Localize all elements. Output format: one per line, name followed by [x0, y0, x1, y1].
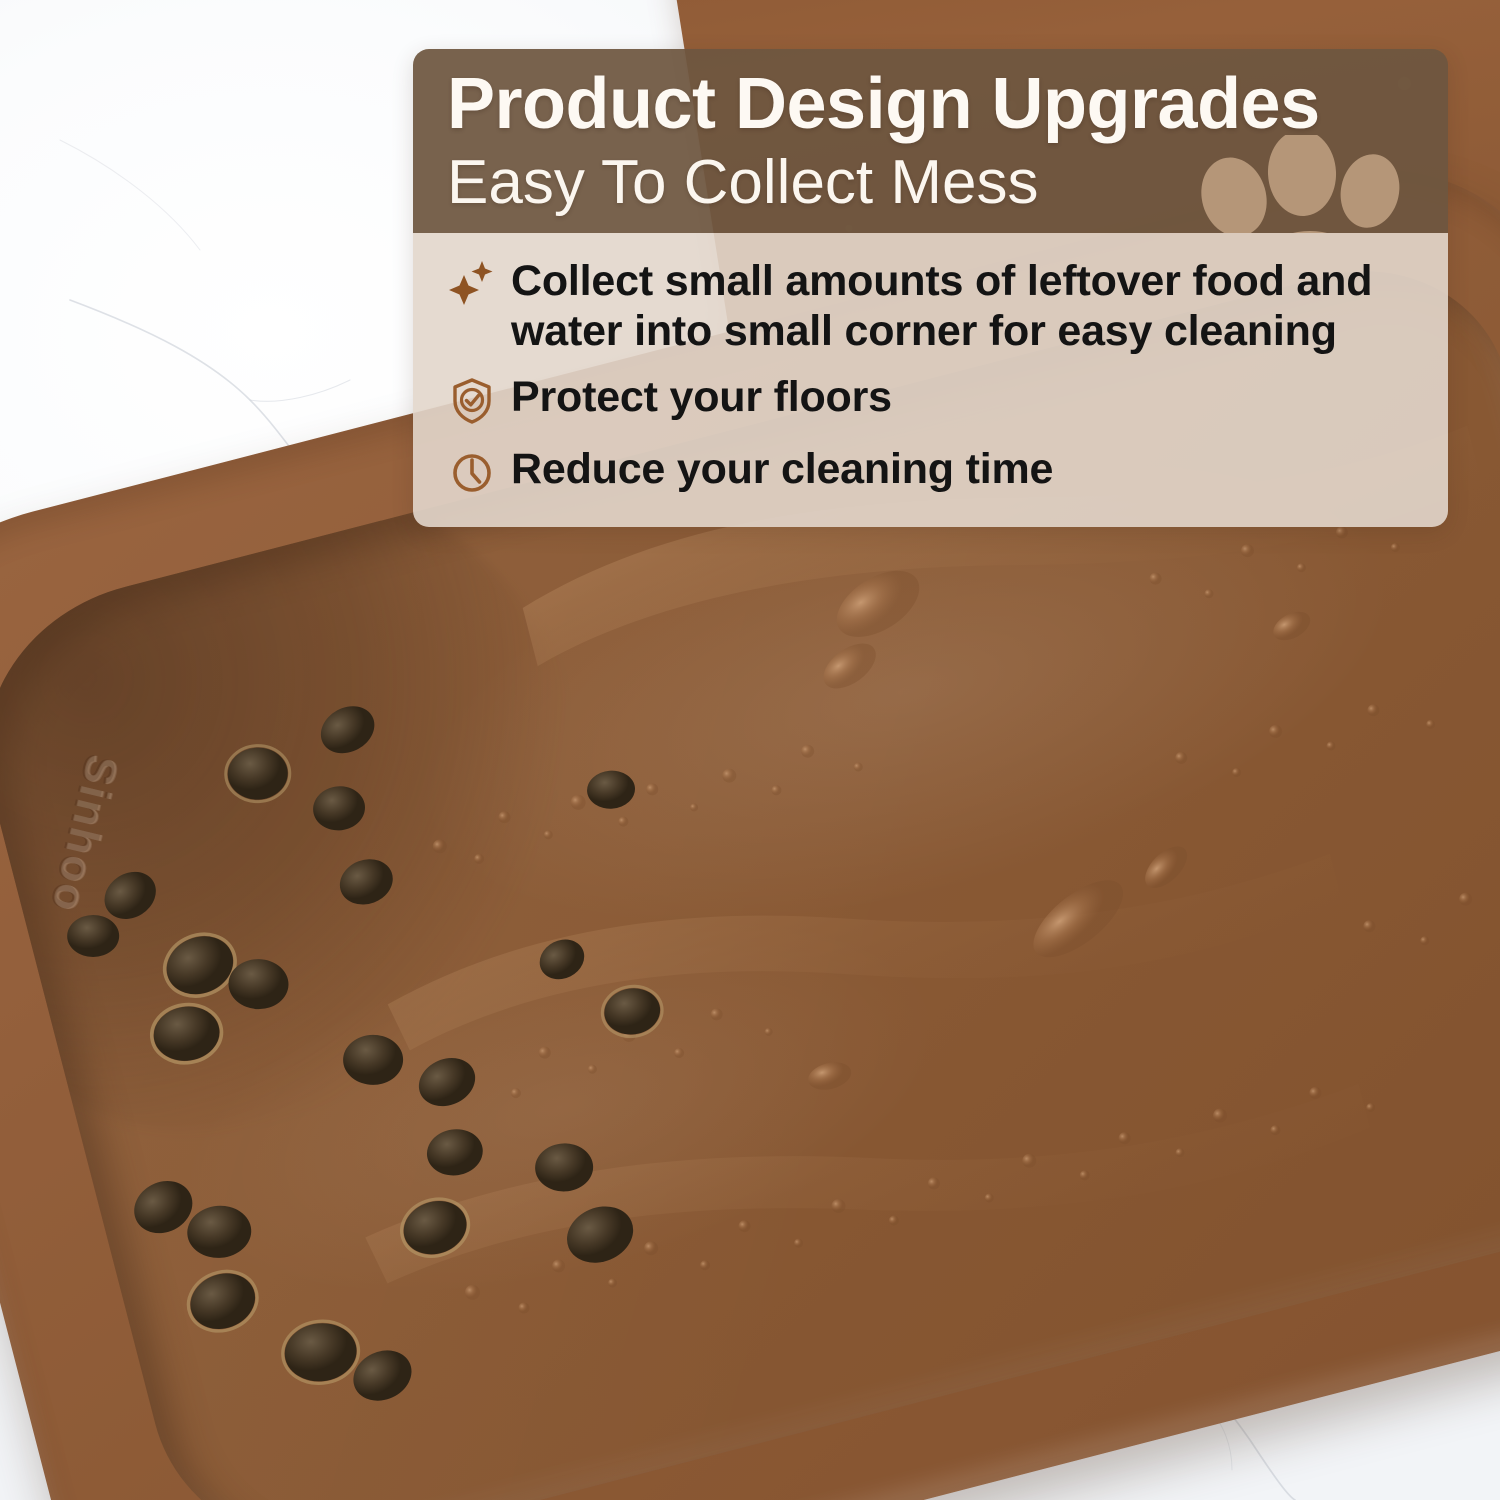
product-marketing-image: Sinhoo Product Design Upgrades Easy To C…	[0, 0, 1500, 1500]
feature-callout-card: Product Design Upgrades Easy To Collect …	[413, 49, 1448, 527]
list-item-label: Reduce your cleaning time	[511, 445, 1053, 495]
callout-header: Product Design Upgrades Easy To Collect …	[413, 49, 1448, 233]
list-item: Collect small amounts of leftover food a…	[449, 257, 1420, 357]
list-item: Protect your floors	[449, 373, 1420, 429]
kibble-pieces	[19, 636, 772, 1455]
page-subtitle: Easy To Collect Mess	[447, 148, 1414, 217]
list-item: Reduce your cleaning time	[449, 445, 1420, 501]
page-title: Product Design Upgrades	[447, 67, 1414, 142]
list-item-label: Protect your floors	[511, 373, 892, 423]
callout-body: Collect small amounts of leftover food a…	[413, 233, 1448, 527]
clock-icon	[449, 445, 495, 501]
list-item-label: Collect small amounts of leftover food a…	[511, 257, 1420, 357]
shield-check-icon	[449, 373, 495, 429]
sparkle-icon	[449, 257, 495, 313]
feature-list: Collect small amounts of leftover food a…	[449, 257, 1420, 501]
